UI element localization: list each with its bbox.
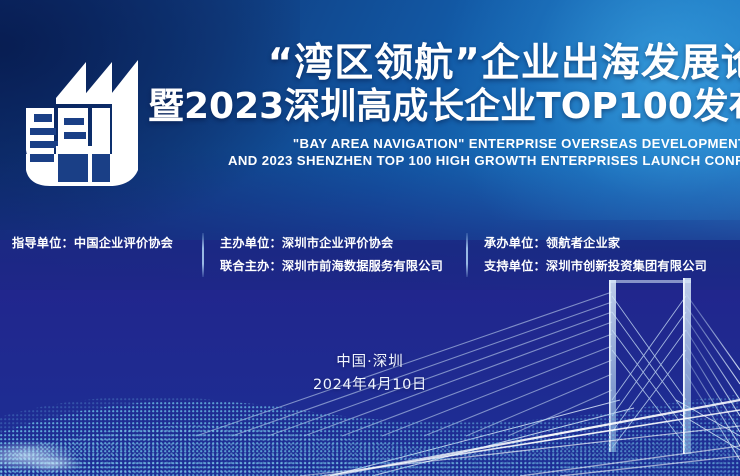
organizer-column-1: 指导单位：中国企业评价协会 (0, 226, 203, 255)
organizer-row: 主办单位：深圳市企业评价协会 (220, 232, 467, 255)
event-location: 中国·深圳 (0, 350, 740, 374)
organizer-row: 联合主办：深圳市前海数据服务有限公司 (220, 255, 467, 278)
organizer-credits: 指导单位：中国企业评价协会 主办单位：深圳市企业评价协会 联合主办：深圳市前海数… (0, 226, 740, 288)
subtitle-en-line-2: AND 2023 SHENZHEN TOP 100 HIGH GROWTH EN… (148, 152, 740, 169)
subtitle-en-line-1: "BAY AREA NAVIGATION" ENTERPRISE OVERSEA… (148, 135, 740, 152)
title-line-2: 暨2023深圳高成长企业TOP100发布会 (148, 86, 740, 128)
banner-header: “湾区领航”企业出海发展论坛 暨2023深圳高成长企业TOP100发布会 "BA… (0, 40, 740, 200)
organizer-row: 指导单位：中国企业评价协会 (12, 232, 203, 255)
column-divider (202, 233, 204, 277)
organizer-row: 支持单位：深圳市创新投资集团有限公司 (484, 255, 740, 278)
organizer-column-2: 主办单位：深圳市企业评价协会 联合主办：深圳市前海数据服务有限公司 (203, 226, 467, 278)
column-divider (466, 233, 468, 277)
conference-banner: “湾区领航”企业出海发展论坛 暨2023深圳高成长企业TOP100发布会 "BA… (0, 0, 740, 476)
title-block: “湾区领航”企业出海发展论坛 暨2023深圳高成长企业TOP100发布会 "BA… (148, 40, 740, 169)
event-date: 2024年4月10日 (0, 373, 740, 397)
sail-wave-logo-icon (16, 46, 148, 194)
organizer-row: 承办单位：领航者企业家 (484, 232, 740, 255)
title-line-1: “湾区领航”企业出海发展论坛 (148, 42, 740, 86)
organizer-column-3: 承办单位：领航者企业家 支持单位：深圳市创新投资集团有限公司 (467, 226, 740, 278)
